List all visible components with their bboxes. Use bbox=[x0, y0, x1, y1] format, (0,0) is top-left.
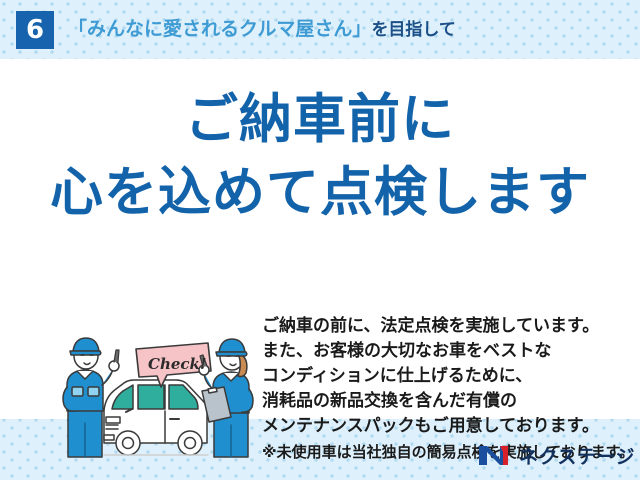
body-line-2: また、お客様の大切なお車をベストな bbox=[262, 339, 632, 364]
body-line-3: コンディションに仕上げるために、 bbox=[262, 364, 632, 389]
body-line-5: メンテナンスパックもご用意しております。 bbox=[262, 414, 632, 439]
headline-line-1: ご納車前に bbox=[0, 83, 640, 156]
body-line-4: 消耗品の新品交換を含んだ有償の bbox=[262, 389, 632, 414]
content-card: ご納車前に 心を込めて点検します bbox=[0, 59, 640, 419]
mechanics-illustration: Check! bbox=[62, 325, 258, 465]
brand-logo: ネクステージ bbox=[478, 440, 635, 470]
header-title-quoted: 「みんなに愛されるクルマ屋さん」 bbox=[68, 19, 371, 40]
advertisement-page: 6 「みんなに愛されるクルマ屋さん」を目指して ご納車前に 心を込めて点検します bbox=[0, 0, 640, 480]
nextage-n-mark-icon bbox=[478, 443, 512, 467]
illustration-svg: Check! bbox=[62, 325, 258, 465]
section-number-badge: 6 bbox=[16, 11, 54, 49]
header-title: 「みんなに愛されるクルマ屋さん」を目指して bbox=[68, 20, 456, 39]
page-title: ご納車前に 心を込めて点検します bbox=[0, 83, 640, 229]
check-bubble-label: Check! bbox=[148, 355, 207, 373]
header-bar: 6 「みんなに愛されるクルマ屋さん」を目指して bbox=[0, 0, 640, 59]
van-icon bbox=[104, 380, 208, 455]
header-title-tail: を目指して bbox=[371, 20, 456, 39]
brand-name: ネクステージ bbox=[519, 442, 635, 469]
headline-line-2: 心を込めて点検します bbox=[0, 156, 640, 229]
body-line-1: ご納車の前に、法定点検を実施しています。 bbox=[262, 314, 632, 339]
